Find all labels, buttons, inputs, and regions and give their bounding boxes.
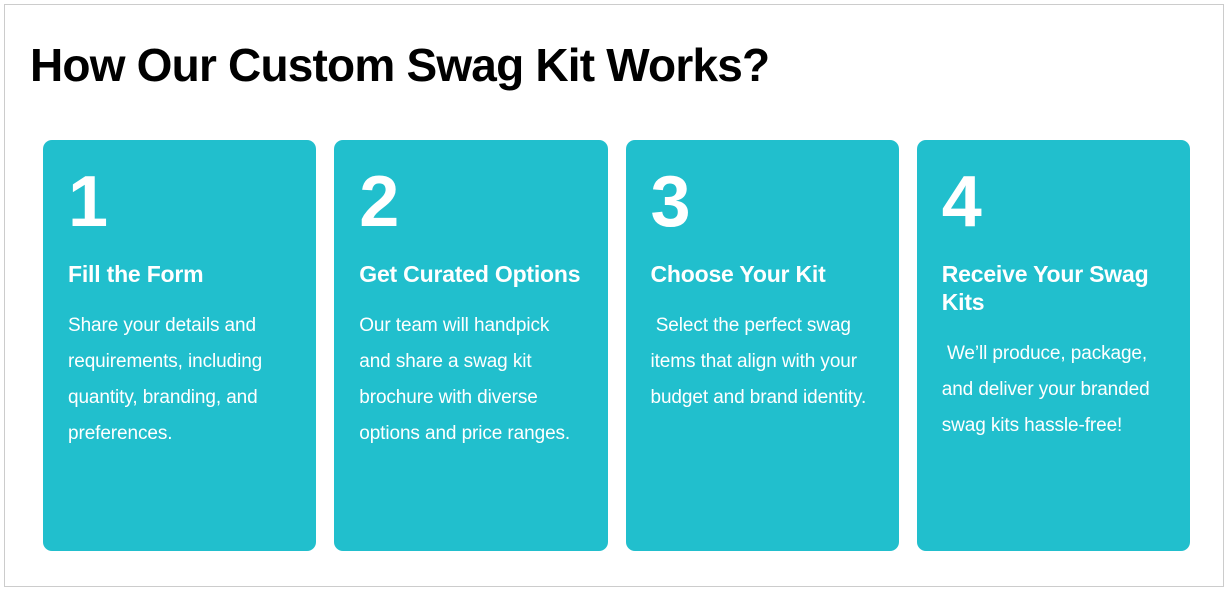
page-title: How Our Custom Swag Kit Works? [30,40,769,91]
step-heading: Choose Your Kit [651,260,873,288]
step-body: Our team will handpick and share a swag … [359,308,581,452]
step-card-4: 4 Receive Your Swag Kits We’ll produce, … [917,140,1190,551]
step-number: 2 [359,174,581,230]
step-body: We’ll produce, package, and deliver your… [942,336,1164,444]
step-number: 3 [651,174,873,230]
step-heading: Fill the Form [68,260,290,288]
step-body: Share your details and requirements, inc… [68,308,290,452]
step-heading: Receive Your Swag Kits [942,260,1164,316]
page-frame: How Our Custom Swag Kit Works? 1 Fill th… [4,4,1224,587]
step-card-2: 2 Get Curated Options Our team will hand… [334,140,607,551]
step-body: Select the perfect swag items that align… [651,308,873,416]
step-number: 4 [942,174,1164,230]
step-number: 1 [68,174,290,230]
step-card-3: 3 Choose Your Kit Select the perfect swa… [626,140,899,551]
steps-card-row: 1 Fill the Form Share your details and r… [43,140,1190,551]
step-heading: Get Curated Options [359,260,581,288]
step-card-1: 1 Fill the Form Share your details and r… [43,140,316,551]
